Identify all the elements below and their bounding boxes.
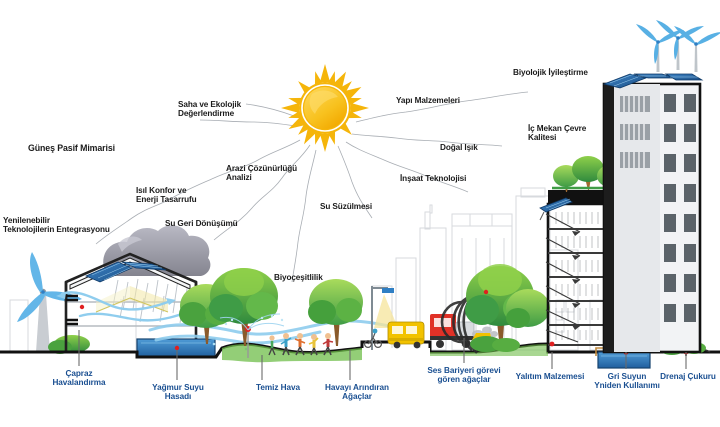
label-yagmur-suyu-hasadi: Yağmur Suyu Hasadı — [139, 383, 217, 401]
marker-dot — [80, 305, 84, 309]
label-ic-mekan-cevre-kalitesi: İç Mekan Çevre Kalitesi — [528, 124, 586, 142]
label-line-1: Gri Suyun — [608, 372, 647, 381]
label-biyolojik-iyilestirme: Biyolojik İyileştirme — [513, 68, 588, 77]
label-saha-ve-ekolojik: Saha ve Ekolojik Değerlendirme — [178, 100, 241, 118]
label-havayi-arindiran-agaclar: Havayı Arındıran Ağaçlar — [318, 383, 396, 401]
marker-dot — [175, 346, 179, 350]
label-su-suzulmesi: Su Süzülmesi — [320, 202, 372, 211]
rooftop-wind-turbines — [636, 20, 720, 72]
infographic-artwork — [0, 0, 720, 427]
label-ses-bariyeri-agaclar: Ses Bariyeri görevi gören ağaçlar — [425, 366, 503, 384]
marker-dot — [484, 290, 488, 294]
label-su-geri-donusumu: Su Geri Dönüşümü — [165, 219, 238, 228]
label-biyocesitlilik: Biyoçeşitlilik — [274, 273, 323, 282]
city-bus — [388, 322, 424, 348]
marker-dot — [550, 342, 555, 347]
label-gunes-pasif-mimarisi: Güneş Pasif Mimarisi — [28, 144, 115, 154]
label-yapi-malzemeleri: Yapı Malzemeleri — [396, 96, 460, 105]
label-line-2-misspelled: Yniden Kullanımı — [588, 381, 666, 390]
label-capraz-havalandirma: Çapraz Havalandırma — [40, 369, 118, 387]
label-temiz-hava: Temiz Hava — [239, 383, 317, 392]
label-yenilenebilir-teknolojiler: Yenilenebilir Teknolojilerin Entegrasyon… — [3, 216, 110, 234]
label-isil-konfor: Isıl Konfor ve Enerji Tasarrufu — [136, 186, 197, 204]
noise-barrier-trees — [465, 264, 550, 352]
sun-icon — [281, 64, 369, 152]
label-arazi-cozunurlugu: Arazi Çözünürlüğü Analizi — [226, 164, 297, 182]
label-dogal-isik: Doğal Işık — [440, 143, 478, 152]
label-insaat-teknolojisi: İnşaat Teknolojisi — [400, 174, 466, 183]
rainwater-basin — [137, 339, 215, 357]
label-yalitim-malzemesi: Yalıtım Malzemesi — [511, 372, 589, 381]
infographic-canvas: Güneş Pasif MimarisiYenilenebilir Teknol… — [0, 0, 720, 427]
label-drenaj-cukuru: Drenaj Çukuru — [649, 372, 720, 381]
highrise-tower — [604, 20, 720, 352]
